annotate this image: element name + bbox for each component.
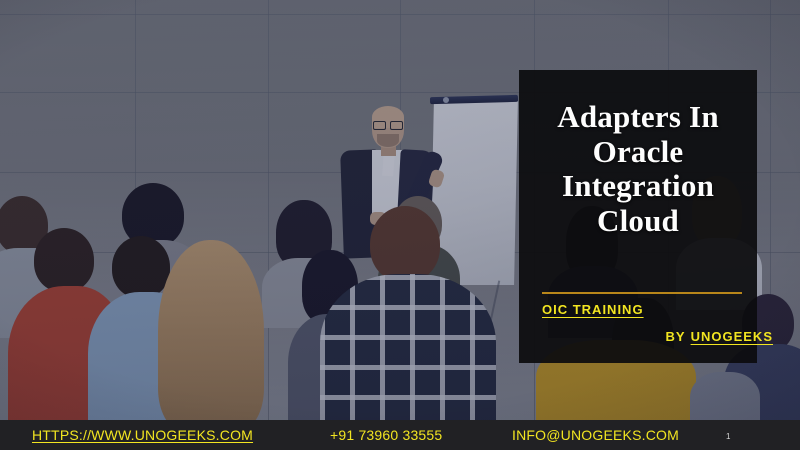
presenter-beard [377,134,399,147]
footer-bar: HTTPS://WWW.UNOGEEKS.COM +91 73960 33555… [0,420,800,450]
presentation-slide: Adapters In Oracle Integration Cloud OIC… [0,0,800,450]
glasses-icon [373,121,403,128]
title-panel: Adapters In Oracle Integration Cloud [519,70,757,363]
footer-email-address: INFO@UNOGEEKS.COM [512,427,679,443]
title-line-4: Cloud [535,204,741,239]
wall-grid-line [268,0,269,430]
page-title: Adapters In Oracle Integration Cloud [535,100,741,239]
title-line-2: Oracle [535,135,741,170]
footer-phone-number: +91 73960 33555 [330,427,442,443]
footer-website-link[interactable]: HTTPS://WWW.UNOGEEKS.COM [32,427,253,443]
title-line-1: Adapters In [535,100,741,135]
title-line-3: Integration [535,169,741,204]
slide-page-number: 1 [726,432,730,441]
byline-by-word: BY [666,329,686,344]
byline-brand: UNOGEEKS [691,329,773,344]
subtitle-oic-training: OIC TRAINING [542,302,644,317]
byline: BYUNOGEEKS [666,329,773,344]
title-divider-rule [542,292,742,294]
flipchart-knob [443,97,449,103]
